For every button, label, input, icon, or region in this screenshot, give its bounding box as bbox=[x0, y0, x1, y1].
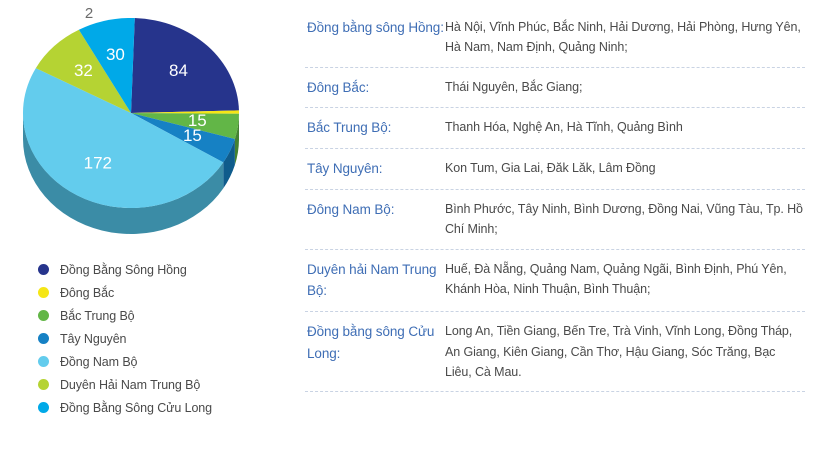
region-name-cell: Duyên hải Nam Trung Bộ: bbox=[305, 259, 445, 303]
legend-item-label: Đồng Bằng Sông Cửu Long bbox=[60, 401, 212, 415]
region-provinces-cell: Thái Nguyên, Bắc Giang; bbox=[445, 77, 805, 97]
region-name-cell: Tây Nguyên: bbox=[305, 158, 445, 180]
legend-item-label: Bắc Trung Bộ bbox=[60, 309, 135, 323]
table-row: Duyên hải Nam Trung Bộ:Huế, Đà Nẵng, Quả… bbox=[305, 250, 805, 313]
legend-color-swatch-icon bbox=[38, 379, 49, 390]
table-row: Bắc Trung Bộ:Thanh Hóa, Nghệ An, Hà Tĩnh… bbox=[305, 108, 805, 149]
legend-item[interactable]: Đồng Nam Bộ bbox=[38, 350, 278, 373]
pie-chart-panel: 84215151723230 Đồng Bằng Sông HồngĐông B… bbox=[0, 0, 290, 457]
region-name-cell: Đông Nam Bộ: bbox=[305, 199, 445, 221]
pie-chart-svg: 84215151723230 bbox=[0, 0, 290, 245]
legend-item[interactable]: Đồng Bằng Sông Hồng bbox=[38, 258, 278, 281]
region-province-table: Đồng bằng sông Hồng:Hà Nội, Vĩnh Phúc, B… bbox=[305, 8, 805, 392]
legend-color-swatch-icon bbox=[38, 264, 49, 275]
legend-item-label: Đồng Bằng Sông Hồng bbox=[60, 263, 187, 277]
pie-slice-value-label: 30 bbox=[106, 45, 125, 64]
legend-color-swatch-icon bbox=[38, 356, 49, 367]
region-provinces-cell: Long An, Tiền Giang, Bến Tre, Trà Vinh, … bbox=[445, 321, 805, 382]
region-provinces-cell: Bình Phước, Tây Ninh, Bình Dương, Đồng N… bbox=[445, 199, 805, 240]
region-provinces-cell: Kon Tum, Gia Lai, Đăk Lăk, Lâm Đồng bbox=[445, 158, 805, 178]
table-row: Tây Nguyên:Kon Tum, Gia Lai, Đăk Lăk, Lâ… bbox=[305, 149, 805, 190]
legend-color-swatch-icon bbox=[38, 402, 49, 413]
region-provinces-cell: Thanh Hóa, Nghệ An, Hà Tĩnh, Quảng Bình bbox=[445, 117, 805, 137]
legend-color-swatch-icon bbox=[38, 287, 49, 298]
table-row: Đồng bằng sông Hồng:Hà Nội, Vĩnh Phúc, B… bbox=[305, 8, 805, 68]
pie-slice-value-label: 84 bbox=[169, 61, 188, 80]
legend-item[interactable]: Tây Nguyên bbox=[38, 327, 278, 350]
pie-slice-value-label: 32 bbox=[74, 61, 93, 80]
region-provinces-cell: Hà Nội, Vĩnh Phúc, Bắc Ninh, Hải Dương, … bbox=[445, 17, 805, 58]
chart-legend: Đồng Bằng Sông HồngĐông BắcBắc Trung BộT… bbox=[38, 258, 278, 419]
legend-item-label: Tây Nguyên bbox=[60, 332, 126, 346]
pie-slice-value-label: 15 bbox=[183, 126, 202, 145]
region-name-cell: Đông Bắc: bbox=[305, 77, 445, 99]
pie-slice-value-label: 172 bbox=[84, 154, 112, 173]
legend-item[interactable]: Duyên Hải Nam Trung Bộ bbox=[38, 373, 278, 396]
pie-slice-value-label: 2 bbox=[85, 5, 93, 22]
region-name-cell: Đồng bằng sông Hồng: bbox=[305, 17, 445, 39]
legend-item-label: Đồng Nam Bộ bbox=[60, 355, 137, 369]
legend-color-swatch-icon bbox=[38, 333, 49, 344]
legend-item-label: Đông Bắc bbox=[60, 286, 114, 300]
legend-item[interactable]: Đồng Bằng Sông Cửu Long bbox=[38, 396, 278, 419]
region-provinces-cell: Huế, Đà Nẵng, Quảng Nam, Quảng Ngãi, Bìn… bbox=[445, 259, 805, 300]
region-name-cell: Đồng bằng sông Cửu Long: bbox=[305, 321, 445, 365]
legend-item[interactable]: Bắc Trung Bộ bbox=[38, 304, 278, 327]
table-row: Đông Bắc:Thái Nguyên, Bắc Giang; bbox=[305, 68, 805, 109]
legend-item[interactable]: Đông Bắc bbox=[38, 281, 278, 304]
legend-color-swatch-icon bbox=[38, 310, 49, 321]
table-row: Đông Nam Bộ:Bình Phước, Tây Ninh, Bình D… bbox=[305, 190, 805, 250]
legend-item-label: Duyên Hải Nam Trung Bộ bbox=[60, 378, 200, 392]
table-row: Đồng bằng sông Cửu Long:Long An, Tiền Gi… bbox=[305, 312, 805, 392]
pie-chart: 84215151723230 bbox=[0, 0, 290, 245]
region-name-cell: Bắc Trung Bộ: bbox=[305, 117, 445, 139]
